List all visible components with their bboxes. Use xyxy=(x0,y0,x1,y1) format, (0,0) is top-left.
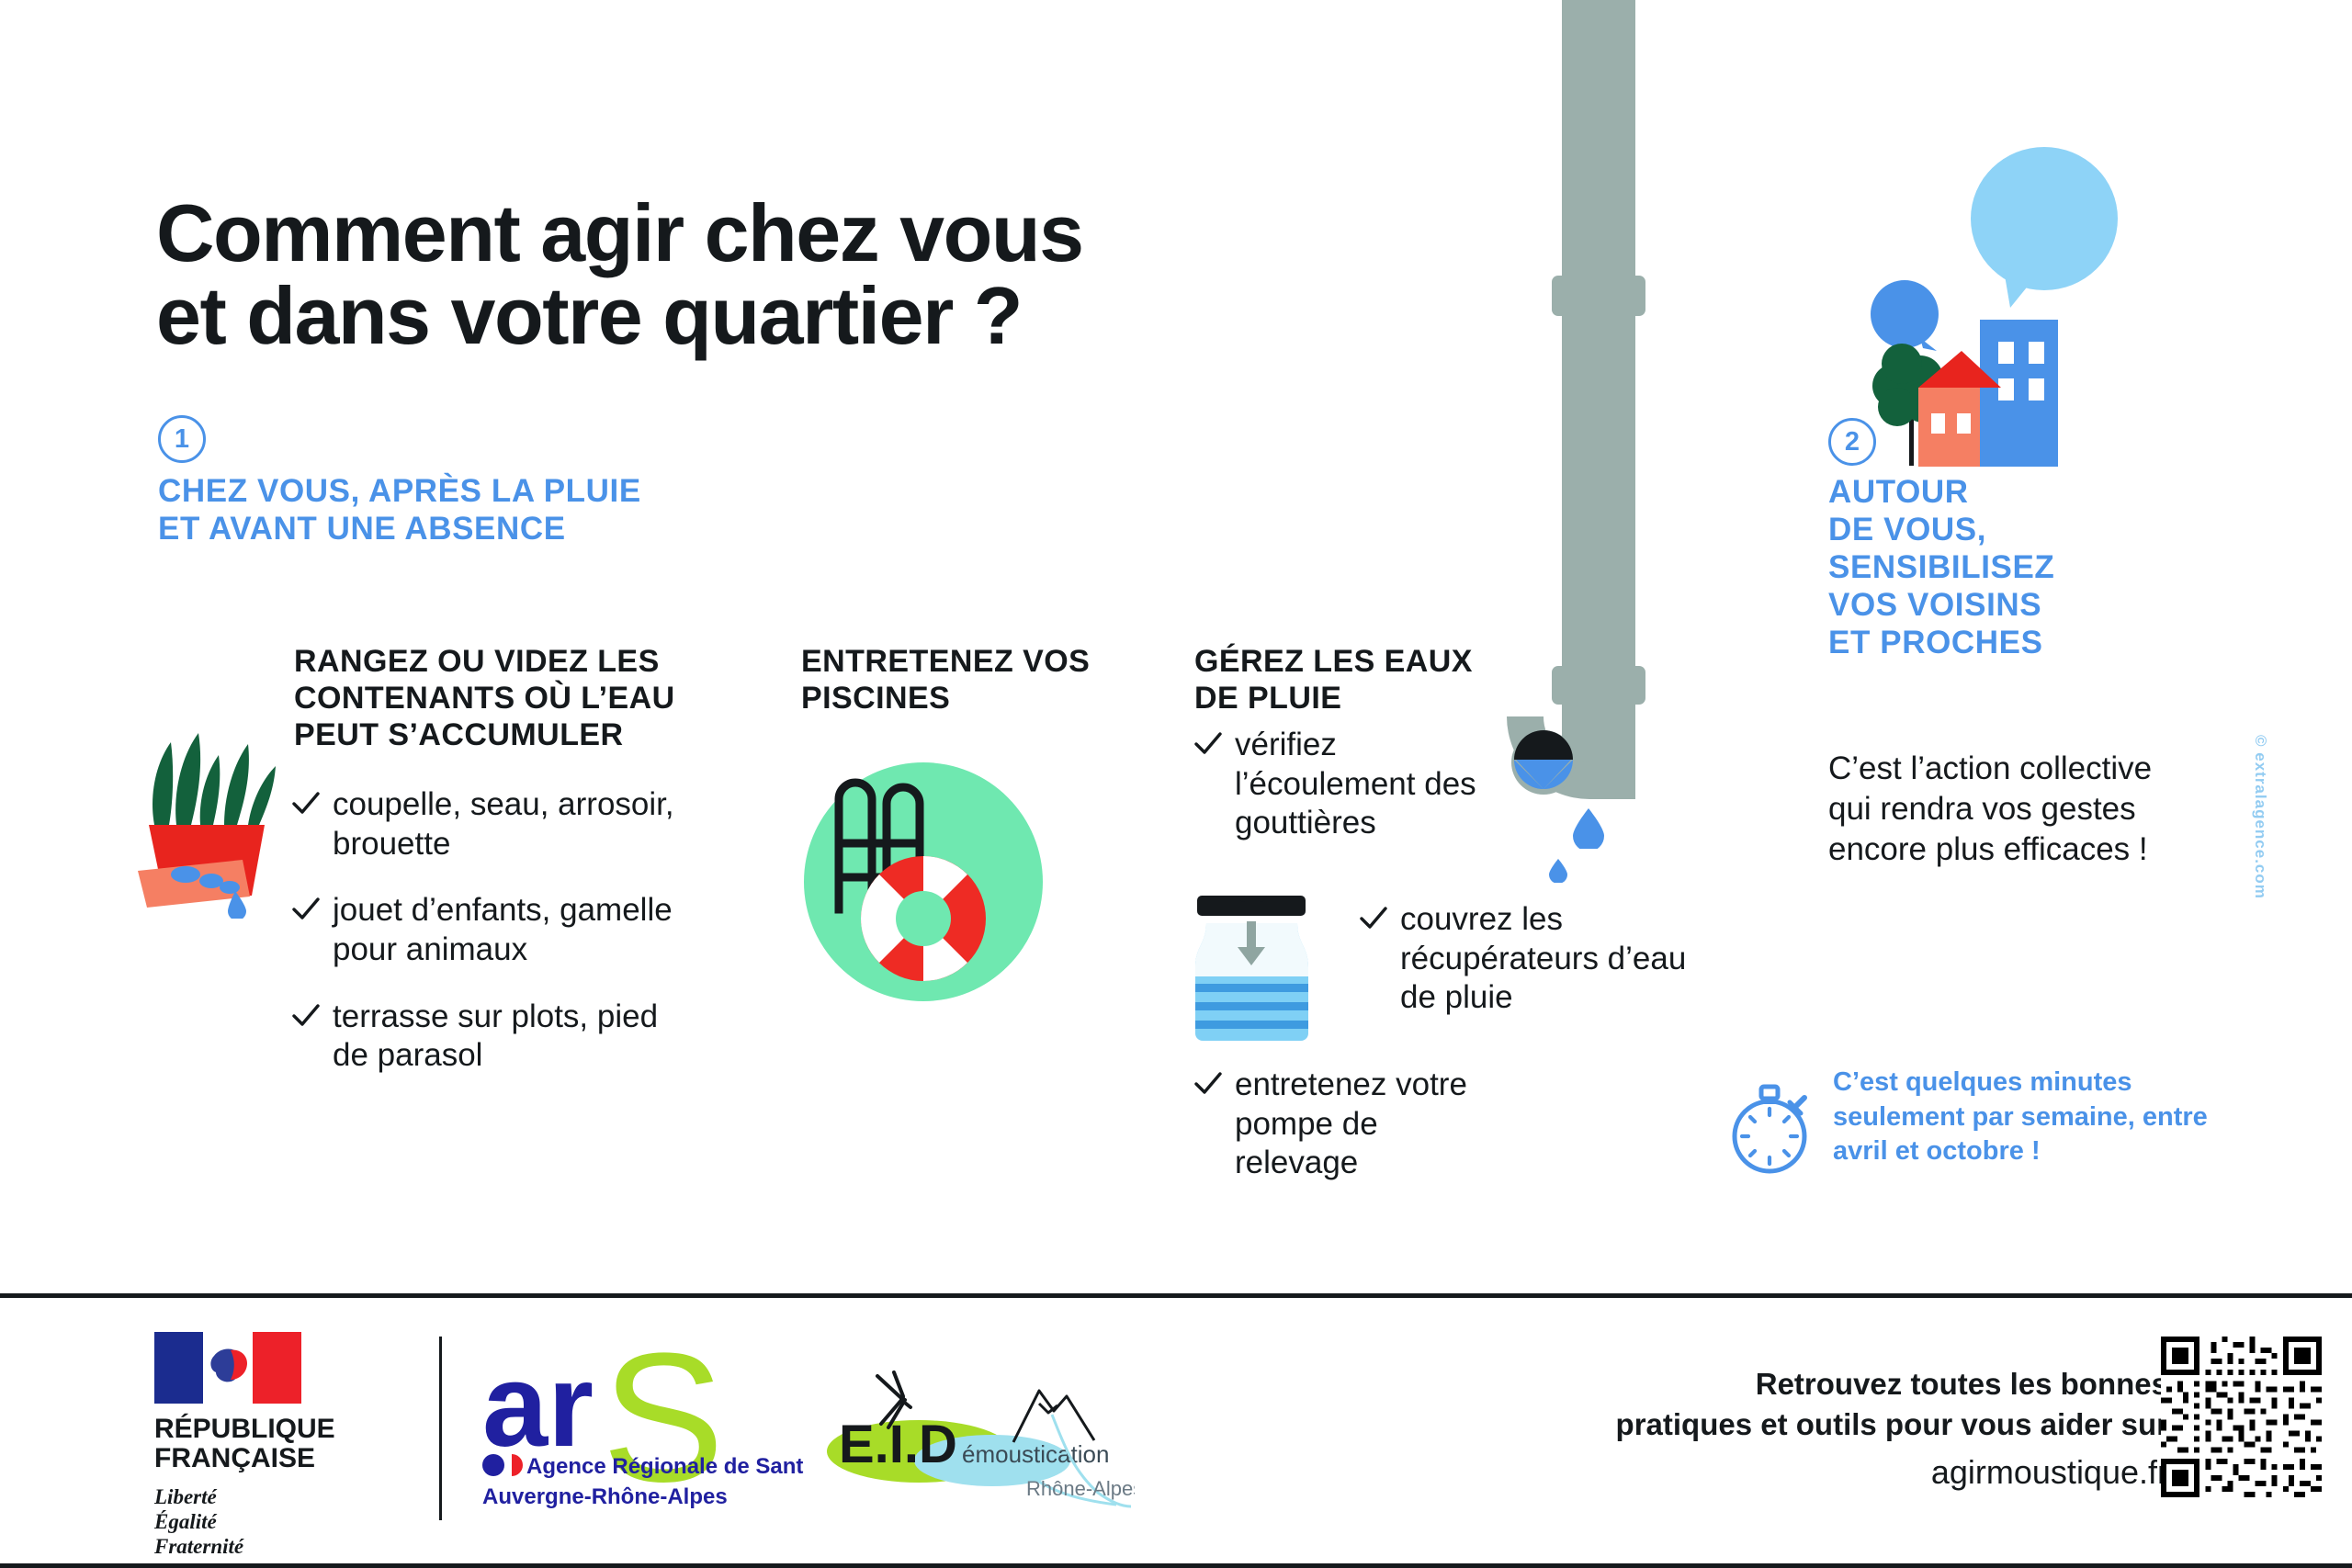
rf-motto-line3: Fraternité xyxy=(154,1534,402,1559)
step-1-number: 1 xyxy=(175,424,189,455)
check-icon xyxy=(292,792,320,816)
column-3-list-gutters: vérifiez l’écoulement des gouttières xyxy=(1194,726,1516,871)
footer-divider-top xyxy=(0,1293,2352,1298)
list-item-label: couvrez les récupérateurs d’eau de pluie xyxy=(1400,901,1686,1015)
ars-region: Auvergne-Rhône-Alpes xyxy=(482,1484,728,1509)
eid-mark: E.I.D xyxy=(839,1415,957,1474)
list-item: jouet d’enfants, gamelle pour animaux xyxy=(292,891,696,969)
downpipe-collar-lower xyxy=(1552,666,1645,705)
stopwatch-icon xyxy=(1727,1079,1819,1176)
page-title-line2: et dans votre quartier ? xyxy=(156,275,1534,357)
water-drop-small-icon xyxy=(1549,859,1567,883)
republique-francaise-name: RÉPUBLIQUE FRANÇAISE xyxy=(154,1415,402,1474)
step-2-heading-line5: ET PROCHES xyxy=(1828,625,2214,662)
step-2-heading-line3: SENSIBILISEZ xyxy=(1828,549,2214,587)
republique-francaise-logo: RÉPUBLIQUE FRANÇAISE Liberté Égalité Fra… xyxy=(154,1332,402,1559)
potted-plant-icon xyxy=(129,707,303,919)
infographic-poster: Comment agir chez vous et dans votre qua… xyxy=(0,0,2352,1568)
stopwatch-note: C’est quelques minutes seulement par sem… xyxy=(1833,1066,2219,1169)
plant-leaves-icon xyxy=(153,733,276,825)
step-2-heading-line2: DE VOUS, xyxy=(1828,512,2214,549)
step-2-paragraph: C’est l’action collective qui rendra vos… xyxy=(1828,749,2196,870)
rf-motto-line2: Égalité xyxy=(154,1509,402,1534)
check-icon xyxy=(1194,1072,1222,1096)
column-1-heading: RANGEZ OU VIDEZ LES CONTENANTS OÙ L’EAU … xyxy=(294,643,726,753)
column-3-heading: GÉREZ LES EAUX DE PLUIE xyxy=(1194,643,1525,716)
ars-dot-blue xyxy=(482,1454,504,1476)
page-title-line1: Comment agir chez vous xyxy=(156,187,1083,278)
footer-cta-line1: Retrouvez toutes les bonnes xyxy=(1286,1364,2168,1404)
list-item-label: entretenez votre pompe de relevage xyxy=(1235,1066,1467,1180)
list-item: couvrez les récupérateurs d’eau de pluie xyxy=(1360,900,1690,1018)
step-1-heading-line2: ET AVANT UNE ABSENCE xyxy=(158,511,856,548)
french-flag-icon xyxy=(154,1332,301,1404)
column-2-heading: ENTRETENEZ VOS PISCINES xyxy=(801,643,1150,716)
eid-region: Rhône-Alpes xyxy=(1026,1477,1135,1500)
footer-logo-divider xyxy=(439,1337,442,1520)
list-item: coupelle, seau, arrosoir, brouette xyxy=(292,785,696,863)
footer-cta: Retrouvez toutes les bonnes pratiques et… xyxy=(1286,1364,2168,1495)
check-icon xyxy=(1360,907,1387,931)
neighbourhood-illustration xyxy=(1865,110,2214,468)
step-1-badge: 1 xyxy=(158,415,206,463)
rf-name-line1: RÉPUBLIQUE xyxy=(154,1415,402,1444)
footer-divider-bottom xyxy=(0,1563,2352,1568)
ars-logo: ar S Agence Régionale de Santé Auvergne-… xyxy=(482,1343,804,1527)
rainwater-butt-icon xyxy=(1190,896,1314,1043)
list-item-label: coupelle, seau, arrosoir, brouette xyxy=(333,786,674,862)
check-icon xyxy=(1194,732,1222,756)
step-2-heading: AUTOUR DE VOUS, SENSIBILISEZ VOS VOISINS… xyxy=(1828,474,2214,662)
water-drop-large-icon xyxy=(1514,730,1573,789)
list-item: terrasse sur plots, pied de parasol xyxy=(292,998,696,1076)
step-2-heading-line4: VOS VOISINS xyxy=(1828,587,2214,625)
speech-bubble-large-icon xyxy=(1971,147,2118,308)
downpipe-collar-upper xyxy=(1552,276,1645,316)
rf-motto-line1: Liberté xyxy=(154,1484,402,1509)
list-item-label: vérifiez l’écoulement des gouttières xyxy=(1235,727,1476,840)
column-3-list-pump: entretenez votre pompe de relevage xyxy=(1194,1066,1507,1211)
list-item: vérifiez l’écoulement des gouttières xyxy=(1194,726,1516,843)
credit-label: © extralagence.com xyxy=(2251,735,2269,1010)
speech-bubble-small-icon xyxy=(1871,280,1939,351)
step-1-heading-line1: CHEZ VOUS, APRÈS LA PLUIE xyxy=(158,473,856,511)
eid-logo: E.I.D émoustication Rhône-Alpes xyxy=(822,1359,1135,1525)
republique-francaise-motto: Liberté Égalité Fraternité xyxy=(154,1484,402,1559)
footer-cta-line2: pratiques et outils pour vous aider sur xyxy=(1286,1404,2168,1445)
marianne-profile-icon xyxy=(203,1332,253,1404)
ars-tagline: Agence Régionale de Santé xyxy=(526,1454,804,1479)
water-drop-medium-icon xyxy=(1573,808,1604,849)
column-1-list: coupelle, seau, arrosoir, brouette jouet… xyxy=(292,785,696,1103)
apartment-building-icon xyxy=(1980,320,2058,467)
ars-mark-ar: ar xyxy=(482,1343,594,1472)
step-2-heading-line1: AUTOUR xyxy=(1828,474,2214,512)
list-item: entretenez votre pompe de relevage xyxy=(1194,1066,1507,1183)
check-icon xyxy=(292,1004,320,1028)
footer-url[interactable]: agirmoustique.fr xyxy=(1286,1450,2168,1495)
column-3-list-butts: couvrez les récupérateurs d’eau de pluie xyxy=(1360,900,1690,1045)
downpipe-shaft xyxy=(1562,0,1635,762)
step-2-number: 2 xyxy=(1845,427,1860,457)
life-ring-icon xyxy=(861,856,986,981)
eid-sub: émoustication xyxy=(962,1440,1109,1468)
rf-name-line2: FRANÇAISE xyxy=(154,1444,402,1473)
swimming-pool-icon xyxy=(790,735,1057,1001)
step-1-heading: CHEZ VOUS, APRÈS LA PLUIE ET AVANT UNE A… xyxy=(158,473,856,548)
check-icon xyxy=(292,897,320,921)
qr-code[interactable] xyxy=(2161,1337,2322,1497)
page-title: Comment agir chez vous et dans votre qua… xyxy=(156,192,1534,357)
step-2-badge: 2 xyxy=(1828,418,1876,466)
list-item-label: terrasse sur plots, pied de parasol xyxy=(333,998,658,1074)
list-item-label: jouet d’enfants, gamelle pour animaux xyxy=(333,892,673,967)
